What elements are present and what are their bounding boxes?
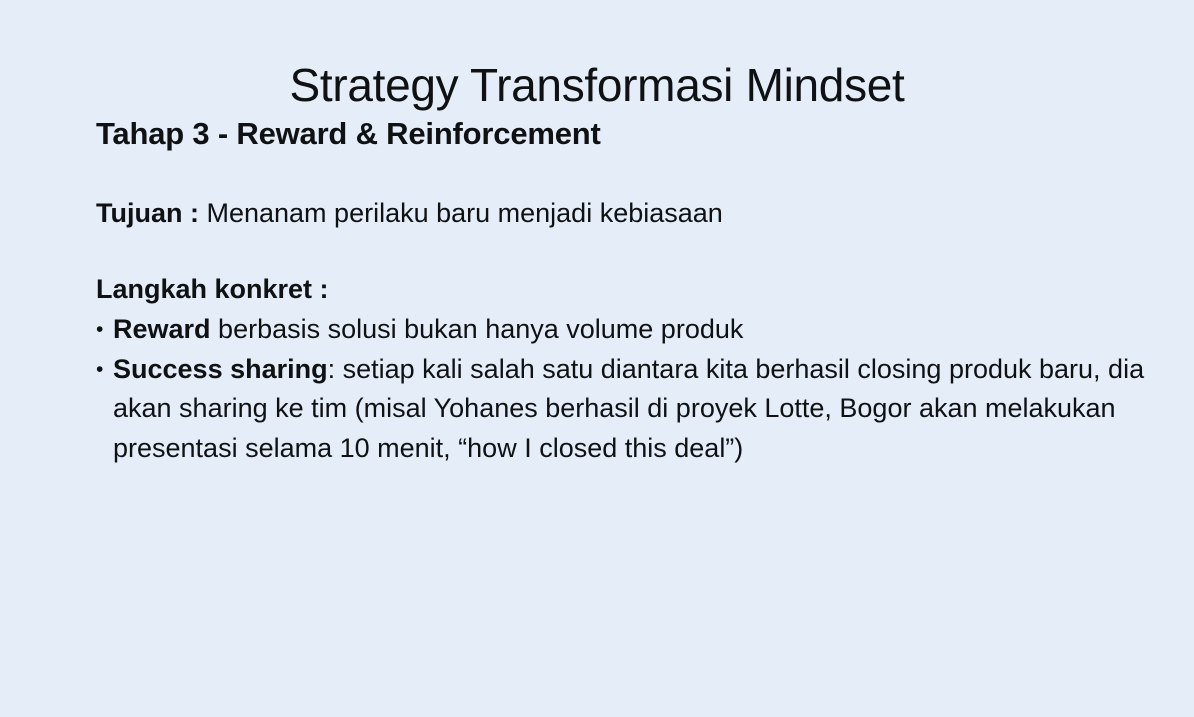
steps-bullet-list: •Reward berbasis solusi bukan hanya volu… — [96, 310, 1156, 470]
page-title: Strategy Transformasi Mindset — [0, 59, 1194, 112]
objective-line: Tujuan : Menanam perilaku baru menjadi k… — [96, 194, 1156, 234]
list-item: •Success sharing: setiap kali salah satu… — [96, 350, 1156, 470]
section-heading: Tahap 3 - Reward & Reinforcement — [96, 114, 1156, 154]
slide-body: Tahap 3 - Reward & Reinforcement Tujuan … — [96, 114, 1156, 469]
list-item: •Reward berbasis solusi bukan hanya volu… — [96, 310, 1156, 350]
objective-label: Tujuan : — [96, 198, 199, 228]
bullet-lead: Success sharing — [113, 354, 328, 384]
steps-heading: Langkah konkret : — [96, 270, 1156, 310]
bullet-lead: Reward — [113, 314, 211, 344]
bullet-text: berbasis solusi bukan hanya volume produ… — [211, 314, 744, 344]
slide-canvas: Strategy Transformasi Mindset Tahap 3 - … — [0, 0, 1194, 717]
spacer-after-section-heading — [96, 154, 1156, 194]
bullet-dot-icon: • — [96, 350, 103, 390]
objective-text: Menanam perilaku baru menjadi kebiasaan — [199, 198, 723, 228]
spacer-after-objective — [96, 234, 1156, 270]
bullet-dot-icon: • — [96, 310, 103, 350]
